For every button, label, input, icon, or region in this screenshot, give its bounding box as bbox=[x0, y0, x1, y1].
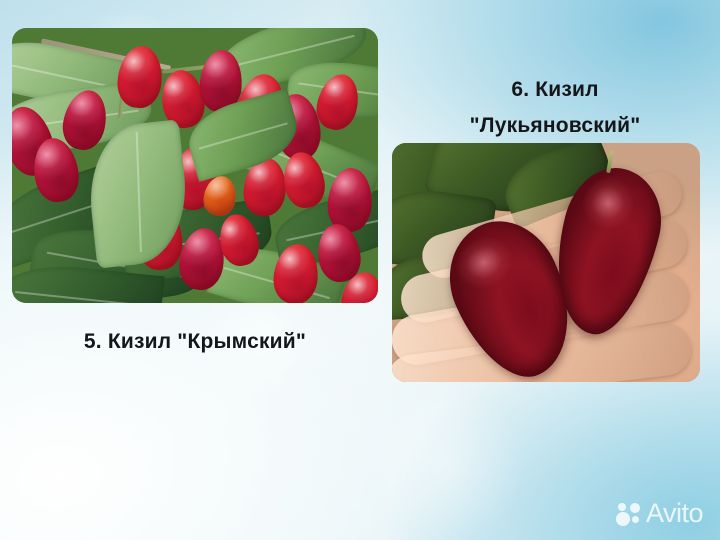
caption-kizil-lukyanovsky: 6. Кизил "Лукьяновский" bbox=[390, 72, 720, 144]
caption-line-1: 6. Кизил bbox=[390, 72, 720, 108]
avito-watermark: Avito bbox=[616, 500, 703, 527]
image-canvas: 5. Кизил "Крымский" 6. Кизил "Лукьяновск… bbox=[0, 0, 720, 540]
avito-dot-small bbox=[618, 503, 626, 511]
photo-left-scene bbox=[12, 28, 378, 303]
berry bbox=[115, 44, 165, 110]
avito-wordmark: Avito bbox=[646, 500, 703, 527]
photo-kizil-krymsky[interactable] bbox=[12, 28, 378, 303]
leaf-vein bbox=[136, 132, 142, 252]
leaf-vein bbox=[12, 61, 116, 88]
caption-kizil-krymsky: 5. Кизил "Крымский" bbox=[0, 330, 390, 354]
photo-right-scene bbox=[392, 143, 700, 382]
caption-line-2: "Лукьяновский" bbox=[390, 108, 720, 144]
avito-logo-icon bbox=[616, 501, 642, 527]
photo-kizil-lukyanovsky[interactable] bbox=[392, 143, 700, 382]
avito-dot-medium bbox=[630, 503, 640, 513]
leaf-vein bbox=[15, 291, 149, 303]
avito-dot-tiny bbox=[632, 516, 639, 523]
avito-dot-large bbox=[616, 512, 630, 526]
leaf-vein bbox=[199, 122, 288, 149]
